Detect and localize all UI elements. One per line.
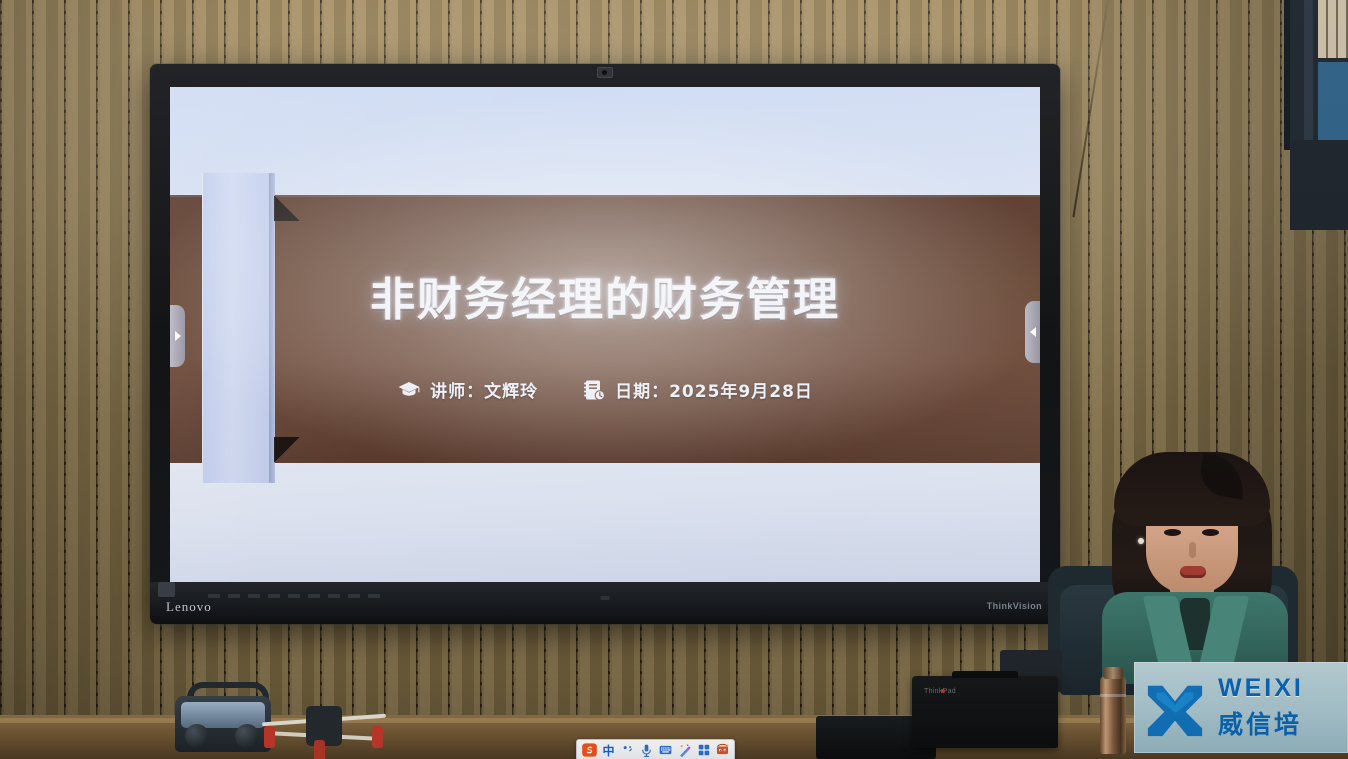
drone-motor-right <box>372 726 383 748</box>
presentation-slide: 非财务经理的财务管理 讲师：文辉玲 <box>170 87 1040 585</box>
right-door-frame-lower <box>1290 140 1348 230</box>
ribbon-fold-shadow-bottom <box>274 437 300 463</box>
slide-brown-band <box>170 195 1040 463</box>
slide-left-ribbon <box>202 173 274 483</box>
mouth <box>1180 566 1206 578</box>
soft-keyboard-icon <box>658 743 673 757</box>
smart-display[interactable]: 非财务经理的财务管理 讲师：文辉玲 <box>150 64 1060 624</box>
right-wall-trim <box>1284 0 1290 150</box>
rc-stick-right <box>235 724 259 748</box>
banner-chinese-text: 威信培 <box>1218 705 1304 741</box>
ir-sensor-icon <box>601 596 610 600</box>
calendar-clock-icon <box>582 378 606 402</box>
presenter-person <box>1096 452 1294 682</box>
thinkpad-logo-dot <box>941 689 945 693</box>
right-door-frame <box>1290 0 1348 140</box>
graduation-cap-icon <box>397 378 421 402</box>
nose <box>1189 542 1196 558</box>
laptop-hinge <box>952 671 1018 678</box>
date-item: 日期：2025年9月28日 <box>582 377 813 402</box>
slide-meta-row: 讲师：文辉玲 <box>170 377 1040 402</box>
punctuation-toggle[interactable] <box>618 741 637 759</box>
eye-right <box>1202 529 1219 536</box>
hair-front <box>1114 452 1270 526</box>
screenshot-scene: 非财务经理的财务管理 讲师：文辉玲 <box>0 0 1348 759</box>
toolbox[interactable] <box>694 741 713 759</box>
thermos-bottle-icon <box>1100 676 1126 754</box>
earring <box>1138 538 1144 544</box>
sogou-logo-icon[interactable] <box>579 741 599 759</box>
instructor-label: 讲师：文辉玲 <box>430 377 538 402</box>
voice-input[interactable] <box>637 741 656 759</box>
display-bottom-bezel: Lenovo ThinkVision <box>150 582 1060 624</box>
eye-left <box>1164 529 1181 536</box>
rc-transmitter-icon <box>175 682 271 752</box>
display-screen[interactable]: 非财务经理的财务管理 讲师：文辉玲 <box>170 87 1040 585</box>
door-glass-lower <box>1318 62 1348 140</box>
soft-keyboard[interactable] <box>656 741 675 759</box>
date-label: 日期：2025年9月28日 <box>615 377 813 402</box>
door-post <box>1304 0 1313 140</box>
apps-grid-icon <box>697 743 711 757</box>
thermos-ring <box>1100 694 1126 697</box>
side-handle-right[interactable] <box>1025 301 1040 363</box>
thinkpad-logo-text: ThinkPad <box>924 688 956 695</box>
speaker-grille <box>208 594 388 598</box>
door-glass-upper <box>1318 0 1348 58</box>
ribbon-fold-shadow-top <box>274 195 300 221</box>
thinkpad-logo: ThinkPad <box>924 688 946 696</box>
thermos-cap <box>1103 667 1123 679</box>
lenovo-brand-label: Lenovo <box>166 599 212 615</box>
drone-motor-center <box>314 740 325 759</box>
drone-motor-left <box>264 726 275 748</box>
chevron-left-icon <box>1030 327 1036 337</box>
language-mode-toggle[interactable]: 中 <box>599 741 618 759</box>
rc-stick-left <box>185 724 209 748</box>
weixin-logo-icon <box>1144 679 1206 737</box>
skin-magic-icon <box>677 743 692 758</box>
instructor-item: 讲师：文辉玲 <box>397 377 538 402</box>
quadcopter-drone-icon <box>262 700 386 756</box>
thinkvision-brand-label: ThinkVision <box>987 601 1042 611</box>
slide-title: 非财务经理的财务管理 <box>170 263 1040 328</box>
skin-center[interactable] <box>675 741 694 759</box>
thinkpad-laptop-icon[interactable]: ThinkPad <box>912 676 1058 748</box>
banner-english-text: WEIXI <box>1218 674 1304 703</box>
expression-picker[interactable] <box>713 741 732 759</box>
chevron-right-icon <box>175 331 181 341</box>
punctuation-icon <box>620 743 635 757</box>
sogou-input-method-toolbar[interactable]: 中 <box>576 739 735 759</box>
microphone-icon <box>639 743 654 758</box>
side-handle-left[interactable] <box>170 305 185 367</box>
emoji-icon <box>715 743 730 757</box>
language-mode-label: 中 <box>602 742 614 759</box>
webcam-icon <box>597 67 613 78</box>
bezel-left-badge <box>158 582 175 597</box>
weixin-training-banner: WEIXI 威信培 <box>1134 662 1348 753</box>
hair-parting <box>1197 452 1249 499</box>
